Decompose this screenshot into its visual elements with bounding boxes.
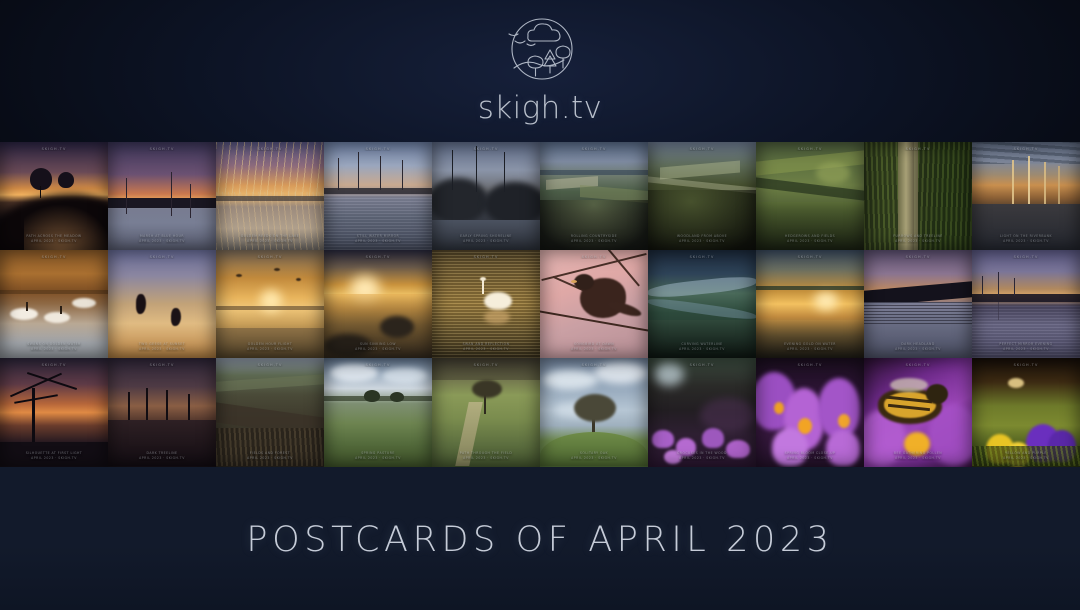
photo-sun-sinking-low [324,250,432,358]
photo-tile[interactable]: SKIGH.TV FIELDS AND FORESTAPRIL 2023 · S… [216,358,324,467]
photo-silhouette-first-light [0,358,108,467]
photo-geese-at-sunset [108,250,216,358]
photo-spring-bloom-closeup [756,358,864,467]
photo-tile[interactable]: SKIGH.TV WOODLAND FROM ABOVEAPRIL 2023 ·… [648,142,756,250]
photo-tile[interactable]: SKIGH.TV CROCUSES IN THE WOODAPRIL 2023 … [648,358,756,467]
photo-golden-hour-flight [216,250,324,358]
landscape-circle-logo-icon[interactable] [497,8,583,88]
photo-crocuses-in-the-wood [648,358,756,467]
photo-swans-golden-water [0,250,108,358]
photo-bee-gathering-pollen [864,358,972,467]
photo-spring-pasture [324,358,432,467]
photo-evening-gold-on-water [756,250,864,358]
photo-dark-treeline [108,358,216,467]
photo-dark-headland [864,250,972,358]
gallery-page: skigh.tv SKIGH.TV PATH ACROSS THE MEADOW… [0,0,1080,610]
photo-tile[interactable]: SKIGH.TV SWANS ON GOLDEN WATERAPRIL 2023… [0,250,108,358]
photo-tile[interactable]: SKIGH.TV GOLDEN REEDS ON THE LAKEAPRIL 2… [216,142,324,250]
photo-tile[interactable]: SKIGH.TV DARK HEADLANDAPRIL 2023 · SKIGH… [864,250,972,358]
photo-tile[interactable]: SKIGH.TV STILL WATER MIRRORAPRIL 2023 · … [324,142,432,250]
photo-marsh-dusk [108,142,216,250]
photo-tile[interactable]: SKIGH.TV SONGBIRD AT DAWNAPRIL 2023 · SK… [540,250,648,358]
photo-tile[interactable]: SKIGH.TV TWO GEESE AT SUNSETAPRIL 2023 ·… [108,250,216,358]
photo-tile[interactable]: SKIGH.TV ROLLING COUNTRYSIDEAPRIL 2023 ·… [540,142,648,250]
photo-solitary-oak [540,358,648,467]
photo-fields-and-forest [216,358,324,467]
page-header: skigh.tv [0,0,1080,142]
photo-early-spring-shoreline [432,142,540,250]
photo-tile[interactable]: SKIGH.TV YELLOW AND PURPLEAPRIL 2023 · S… [972,358,1080,467]
page-footer: POSTCARDS OF APRIL 2023 [0,467,1080,610]
photo-light-on-riverbank [972,142,1080,250]
photo-tile[interactable]: SKIGH.TV PATH ACROSS THE MEADOWAPRIL 202… [0,142,108,250]
photo-aerial-rolling-countryside [540,142,648,250]
photo-still-water-mirror [324,142,432,250]
gallery-title: POSTCARDS OF APRIL 2023 [246,520,833,560]
photo-perfect-mirror-evening [972,250,1080,358]
photo-furrows-and-treeline [864,142,972,250]
photo-songbird-at-dawn [540,250,648,358]
photo-path-through-the-field [432,358,540,467]
photo-tile[interactable]: SKIGH.TV CURVING WATERLINEAPRIL 2023 · S… [648,250,756,358]
photo-woodland-from-above [648,142,756,250]
photo-sunset-path [0,142,108,250]
photo-hedgerows-and-fields [756,142,864,250]
photo-tile[interactable]: SKIGH.TV FURROWS AND TREELINEAPRIL 2023 … [864,142,972,250]
photo-swan-and-reflection [432,250,540,358]
photo-tile[interactable]: SKIGH.TV SILHOUETTE AT FIRST LIGHTAPRIL … [0,358,108,467]
photo-tile[interactable]: SKIGH.TV SOLITARY OAKAPRIL 2023 · SKIGH.… [540,358,648,467]
photo-tile[interactable]: SKIGH.TV SUN SINKING LOWAPRIL 2023 · SKI… [324,250,432,358]
photo-tile[interactable]: SKIGH.TV BEE GATHERING POLLENAPRIL 2023 … [864,358,972,467]
photo-tile[interactable]: SKIGH.TV SWAN AND REFLECTIONAPRIL 2023 ·… [432,250,540,358]
photo-tile[interactable]: SKIGH.TV PATH THROUGH THE FIELDAPRIL 202… [432,358,540,467]
photo-tile[interactable]: SKIGH.TV LIGHT ON THE RIVERBANKAPRIL 202… [972,142,1080,250]
photo-golden-reeds [216,142,324,250]
photo-tile[interactable]: SKIGH.TV PERFECT MIRROR EVENINGAPRIL 202… [972,250,1080,358]
photo-tile[interactable]: SKIGH.TV HEDGEROWS AND FIELDSAPRIL 2023 … [756,142,864,250]
photo-grid: SKIGH.TV PATH ACROSS THE MEADOWAPRIL 202… [0,142,1080,467]
photo-tile[interactable]: SKIGH.TV GOLDEN HOUR FLIGHTAPRIL 2023 · … [216,250,324,358]
photo-tile[interactable]: SKIGH.TV SPRING PASTUREAPRIL 2023 · SKIG… [324,358,432,467]
photo-tile[interactable]: SKIGH.TV EVENING GOLD ON WATERAPRIL 2023… [756,250,864,358]
photo-yellow-and-purple [972,358,1080,467]
photo-tile[interactable]: SKIGH.TV SPRING BLOOM CLOSE-UPAPRIL 2023… [756,358,864,467]
photo-grid-container: SKIGH.TV PATH ACROSS THE MEADOWAPRIL 202… [0,142,1080,467]
photo-tile[interactable]: SKIGH.TV DARK TREELINEAPRIL 2023 · SKIGH… [108,358,216,467]
photo-tile[interactable]: SKIGH.TV MARSH AT BLUE HOURAPRIL 2023 · … [108,142,216,250]
brand-wordmark: skigh.tv [478,90,603,126]
photo-tile[interactable]: SKIGH.TV EARLY SPRING SHORELINEAPRIL 202… [432,142,540,250]
photo-curving-waterline [648,250,756,358]
